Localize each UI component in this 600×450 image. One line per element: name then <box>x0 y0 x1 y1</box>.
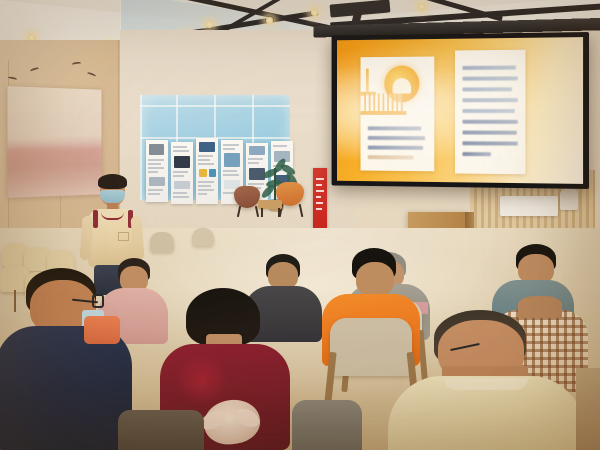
seated-leg <box>292 400 362 450</box>
slide-left-stamp <box>361 57 435 172</box>
speaker-collar <box>101 209 124 220</box>
slide-colonnade-icon <box>364 94 403 111</box>
spotlight-icon <box>310 8 319 17</box>
spotlight-icon <box>417 2 426 11</box>
empty-chair <box>192 228 214 246</box>
white-table <box>500 196 558 216</box>
audience-member <box>0 268 132 450</box>
photograph-scene <box>0 0 600 450</box>
table-leg <box>261 208 263 217</box>
spotlight-icon <box>265 16 274 25</box>
projected-slide <box>337 37 583 184</box>
roll-up-banner <box>313 168 327 230</box>
shirt-visible-behind <box>84 316 120 344</box>
head <box>356 262 394 296</box>
speaker-hair <box>98 174 127 189</box>
slide-monument-icon <box>366 69 369 94</box>
seated-leg <box>576 368 600 450</box>
shirt-collar <box>444 378 528 390</box>
shirt-pocket <box>118 232 129 241</box>
exhibition-board <box>146 140 168 202</box>
face-mask-icon <box>100 190 125 203</box>
torso <box>0 326 132 450</box>
table-leg <box>278 208 280 217</box>
exhibition-board <box>171 142 193 204</box>
side-chair <box>560 188 578 210</box>
print-motif <box>176 354 228 406</box>
empty-chair <box>150 232 174 252</box>
audience-member <box>388 310 584 450</box>
exhibition-board <box>196 138 218 204</box>
shirt-trim <box>93 210 98 228</box>
slide-right-stamp <box>455 50 526 175</box>
seated-leg <box>118 410 204 450</box>
spotlight-icon <box>205 20 214 29</box>
eyeglasses-lens <box>92 294 104 308</box>
head <box>268 262 298 289</box>
projection-screen <box>332 32 589 189</box>
